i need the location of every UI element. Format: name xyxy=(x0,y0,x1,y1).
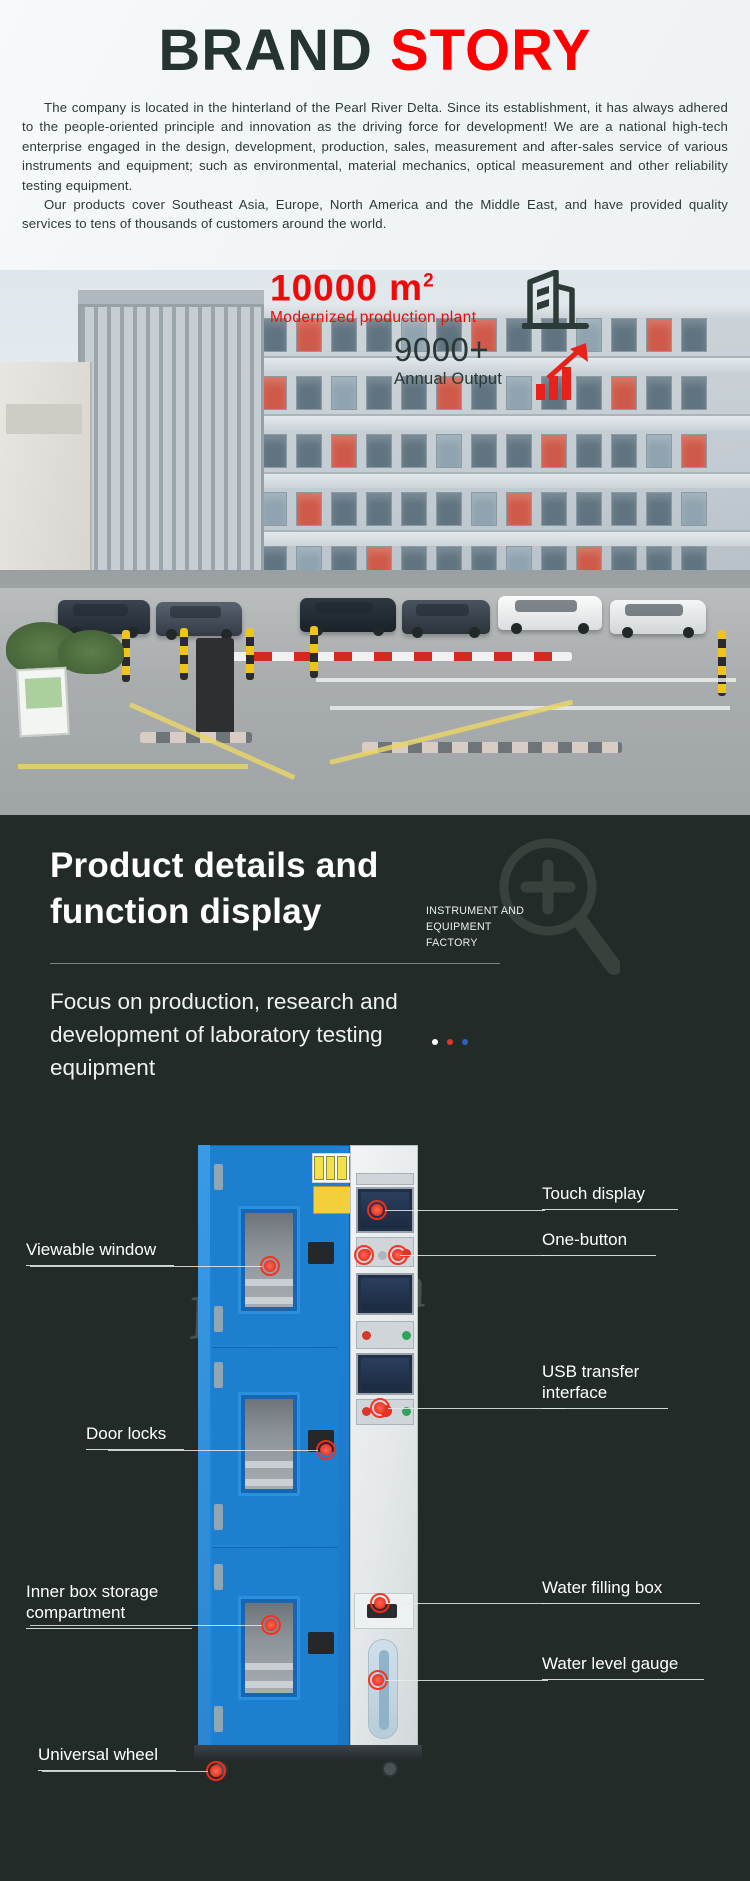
stat-area-block: 10000 m2 Modernized production plant xyxy=(270,270,750,328)
page-title-brand: BRAND xyxy=(158,18,390,83)
run-indicator xyxy=(402,1331,411,1340)
hotspot-door-locks[interactable] xyxy=(316,1440,336,1460)
callout-universal-wheel: Universal wheel xyxy=(38,1744,176,1771)
callout-water-filling-box-label: Water filling box xyxy=(542,1578,662,1597)
callout-door-locks: Door locks xyxy=(86,1423,184,1450)
dot-blue-icon[interactable] xyxy=(462,1039,468,1045)
magnifier-plus-icon xyxy=(490,835,620,975)
tertiary-display[interactable] xyxy=(356,1353,414,1395)
callout-usb-transfer-interface-label: USB transfer interface xyxy=(542,1362,639,1402)
callout-one-button: One-button xyxy=(542,1229,656,1256)
hotspot-one-button-left[interactable] xyxy=(354,1245,374,1265)
hotspot-universal-wheel[interactable] xyxy=(206,1761,226,1781)
hotspot-viewable-window[interactable] xyxy=(260,1256,280,1276)
section-heading-line2: function display xyxy=(50,889,470,935)
secondary-display[interactable] xyxy=(356,1273,414,1315)
callout-viewable-window-label: Viewable window xyxy=(26,1240,156,1259)
car xyxy=(498,596,602,630)
section-heading: Product details and function display xyxy=(50,843,470,935)
car xyxy=(156,602,242,636)
hotspot-water-level-gauge[interactable] xyxy=(368,1670,388,1690)
section-heading-line1: Product details and xyxy=(50,843,470,889)
viewing-window-bottom xyxy=(238,1596,300,1700)
callout-water-filling-box: Water filling box xyxy=(542,1577,700,1604)
brand-paragraph-2: Our products cover Southeast Asia, Europ… xyxy=(22,195,728,234)
stat-area-number: 10000 xyxy=(270,270,378,308)
callout-inner-box-storage-compartment-label: Inner box storage compartment xyxy=(26,1582,158,1622)
callout-inner-box-storage-compartment: Inner box storage compartment xyxy=(26,1581,206,1629)
gate-arm xyxy=(232,652,572,661)
car xyxy=(402,600,490,634)
dot-red-icon[interactable] xyxy=(447,1039,453,1045)
gate-box xyxy=(196,638,234,736)
brand-story-body: The company is located in the hinterland… xyxy=(22,98,728,234)
brand-story-section: BRAND STORY The company is located in th… xyxy=(0,0,750,270)
callout-universal-wheel-label: Universal wheel xyxy=(38,1745,158,1764)
bollard xyxy=(180,628,188,680)
chamber-door-top xyxy=(212,1145,338,1345)
signboard xyxy=(16,667,69,738)
control-button[interactable] xyxy=(378,1251,387,1260)
universal-wheel-right xyxy=(380,1757,400,1779)
growth-bars-arrow-icon xyxy=(532,340,594,402)
factory-photo-section: 10000 m2 Modernized production plant 900… xyxy=(0,270,750,815)
product-details-section: Product details and function display INS… xyxy=(0,815,750,1881)
page-title-story: STORY xyxy=(390,18,592,83)
parking-marking xyxy=(18,764,248,769)
car xyxy=(58,600,150,634)
callout-door-locks-label: Door locks xyxy=(86,1424,166,1443)
hotspot-water-filling-box[interactable] xyxy=(370,1593,390,1613)
power-indicator xyxy=(362,1331,371,1340)
leader-line xyxy=(42,1771,208,1772)
building-icon xyxy=(522,270,590,332)
lane-line xyxy=(316,678,736,682)
callout-usb-transfer-interface: USB transfer interface xyxy=(542,1361,692,1409)
stat-area-caption: Modernized production plant xyxy=(270,308,750,328)
stat-area-unit: m2 xyxy=(389,270,434,308)
callout-viewable-window: Viewable window xyxy=(26,1239,174,1266)
brand-paragraph-1: The company is located in the hinterland… xyxy=(22,98,728,195)
dot-white-icon[interactable] xyxy=(432,1039,438,1045)
hotspot-touch-display[interactable] xyxy=(367,1200,387,1220)
hotspot-usb-transfer-interface[interactable] xyxy=(370,1398,390,1418)
left-building xyxy=(0,362,92,572)
panel-title-strip xyxy=(356,1173,414,1185)
leader-line xyxy=(386,1680,548,1681)
shrub xyxy=(58,630,124,674)
callout-water-level-gauge: Water level gauge xyxy=(542,1653,704,1680)
callout-touch-display-label: Touch display xyxy=(542,1184,645,1203)
car xyxy=(610,600,706,634)
bollard xyxy=(246,628,254,680)
divider xyxy=(50,963,500,964)
leader-line xyxy=(400,1255,545,1256)
viewing-window-middle xyxy=(238,1392,300,1496)
facade-grill xyxy=(78,304,264,604)
page-title: BRAND STORY xyxy=(22,16,728,86)
section-subheading: Focus on production, research and develo… xyxy=(50,985,450,1084)
stats-overlay: 10000 m2 Modernized production plant 900… xyxy=(270,270,750,422)
callout-one-button-label: One-button xyxy=(542,1230,627,1249)
leader-line xyxy=(385,1210,545,1211)
stat-area-value: 10000 m2 xyxy=(270,270,750,308)
carousel-dots[interactable] xyxy=(432,1039,468,1045)
leader-line xyxy=(388,1603,545,1604)
leader-line xyxy=(108,1450,318,1451)
callout-touch-display: Touch display xyxy=(542,1183,678,1210)
hotspot-inner-box-storage[interactable] xyxy=(261,1615,281,1635)
leader-line xyxy=(388,1408,566,1409)
chamber-door-bottom xyxy=(212,1547,338,1747)
chamber-side-edge xyxy=(198,1145,210,1749)
door-handle-bottom[interactable] xyxy=(308,1632,334,1654)
bollard xyxy=(310,626,318,678)
bollard xyxy=(718,630,726,696)
door-handle-top[interactable] xyxy=(308,1242,334,1264)
callout-water-level-gauge-label: Water level gauge xyxy=(542,1654,678,1673)
leader-line xyxy=(30,1266,262,1267)
